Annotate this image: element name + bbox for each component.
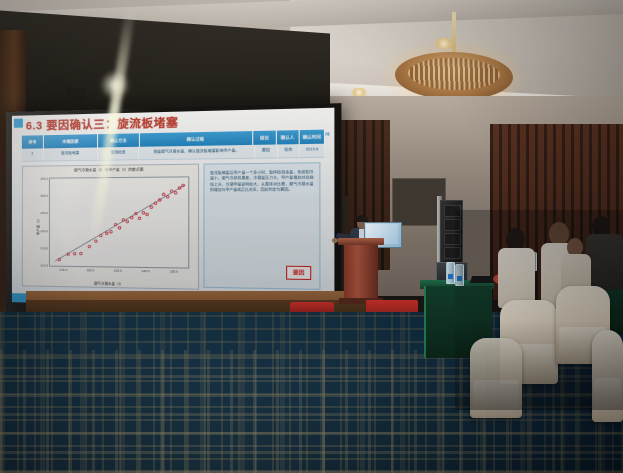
cell-process: 测量烟气冷凝水量，确认旋流板堵塞影响甲产量。 (139, 145, 255, 160)
chart-ytick: 226.0 (40, 246, 48, 250)
cell-date: 2019.6 (300, 144, 325, 158)
col-header-confirmer: 确认人 (277, 130, 300, 144)
chart-xtick: 235.0 (114, 269, 122, 273)
data-point (100, 234, 102, 236)
podium (344, 242, 378, 304)
water-bottle (455, 264, 464, 286)
data-point (58, 258, 60, 260)
water-bottle (446, 262, 455, 284)
speaker-driver-icon (444, 233, 461, 245)
scatter-svg (50, 177, 188, 267)
data-point (130, 216, 133, 218)
trendline (55, 185, 185, 263)
ceiling-vent (430, 108, 590, 124)
slide-corner-marker (14, 119, 23, 128)
data-point (174, 192, 177, 195)
chart-xtick: 215.0 (60, 268, 68, 272)
cell-factor: 旋流板堵塞 (44, 147, 98, 161)
presentation-slide: 6.3 要因确认三：旋流板堵塞 中国石化 序号 末端因素 确认方法 确认过程 结… (12, 108, 335, 310)
podium-top (338, 238, 384, 245)
conclusion-box: 旋流板堵塞后甲产量一个多小时，取样检测含量，系统制冷量小，烟气冷却效果差，冷凝量… (203, 162, 320, 290)
cell-confirmer: 张伟 (278, 144, 301, 158)
data-point (73, 253, 75, 255)
data-point (118, 227, 121, 229)
data-point (154, 202, 157, 205)
data-point (162, 193, 165, 196)
col-header-conclusion: 结论 (254, 131, 277, 145)
col-header-factor: 末端因素 (44, 134, 98, 148)
speaker-driver-icon (444, 205, 461, 217)
col-header-date: 确认时间 (300, 130, 326, 145)
person-body (498, 248, 535, 308)
data-point (170, 190, 173, 193)
data-point (146, 213, 149, 215)
chart-xtick: 255.0 (170, 269, 178, 273)
confirmation-table: 序号 末端因素 确认方法 确认过程 结论 确认人 确认时间 3 旋流板堵塞 现场… (22, 130, 325, 162)
chart-ytick: 266.0 (40, 177, 48, 181)
scatter-chart-card: 烟气冷凝水量（t）与甲产量（t）的散点图 甲产量（t） 266.0256.024… (22, 164, 199, 290)
data-point (80, 252, 82, 254)
data-point (110, 231, 113, 233)
data-point (95, 240, 97, 242)
speaker-driver-icon (444, 219, 461, 231)
speaker-driver-icon (444, 247, 461, 259)
audience-chair[interactable] (470, 338, 522, 418)
data-point (106, 232, 108, 234)
chart-ytick: 256.0 (40, 194, 48, 198)
audience-person (586, 216, 623, 292)
data-point (67, 253, 69, 255)
data-point (182, 184, 185, 187)
data-point (114, 223, 117, 225)
conclusion-text: 旋流板堵塞后甲产量一个多小时，取样检测含量，系统制冷量小，烟气冷却效果差，冷凝量… (210, 170, 314, 194)
person-body (586, 234, 623, 290)
lens-flare-bloom (100, 70, 130, 100)
slide-title: 6.3 要因确认三：旋流板堵塞 (26, 114, 178, 134)
presenter-hair (356, 215, 368, 222)
cell-index: 3 (22, 148, 44, 161)
data-point (150, 206, 153, 208)
data-point (122, 219, 125, 221)
cell-conclusion: 要因 (255, 144, 277, 158)
chart-ytick: 246.0 (40, 211, 48, 215)
chart-ytick: 216.0 (40, 263, 48, 267)
downlight-icon (432, 38, 456, 49)
chart-xtick: 245.0 (142, 269, 150, 273)
status-badge: 要因 (286, 266, 311, 280)
data-point (166, 196, 169, 199)
conference-room-photo: 6.3 要因确认三：旋流板堵塞 中国石化 序号 末端因素 确认方法 确认过程 结… (0, 0, 623, 473)
chart-plot-area: 266.0256.0246.0236.0226.0216.0215.0225.0… (49, 176, 189, 268)
data-point (142, 212, 145, 214)
led-screen[interactable]: 6.3 要因确认三：旋流板堵塞 中国石化 序号 末端因素 确认方法 确认过程 结… (6, 103, 341, 321)
col-header-index: 序号 (22, 135, 44, 148)
data-point (88, 245, 90, 247)
chart-xlabel: 烟气冷凝水量（t） (94, 281, 123, 287)
line-array-speaker (440, 200, 463, 264)
chart-xtick: 225.0 (87, 268, 95, 272)
audience-chair[interactable] (592, 330, 623, 422)
data-point (138, 217, 141, 219)
data-point (126, 220, 129, 222)
chart-ytick: 236.0 (40, 229, 48, 233)
